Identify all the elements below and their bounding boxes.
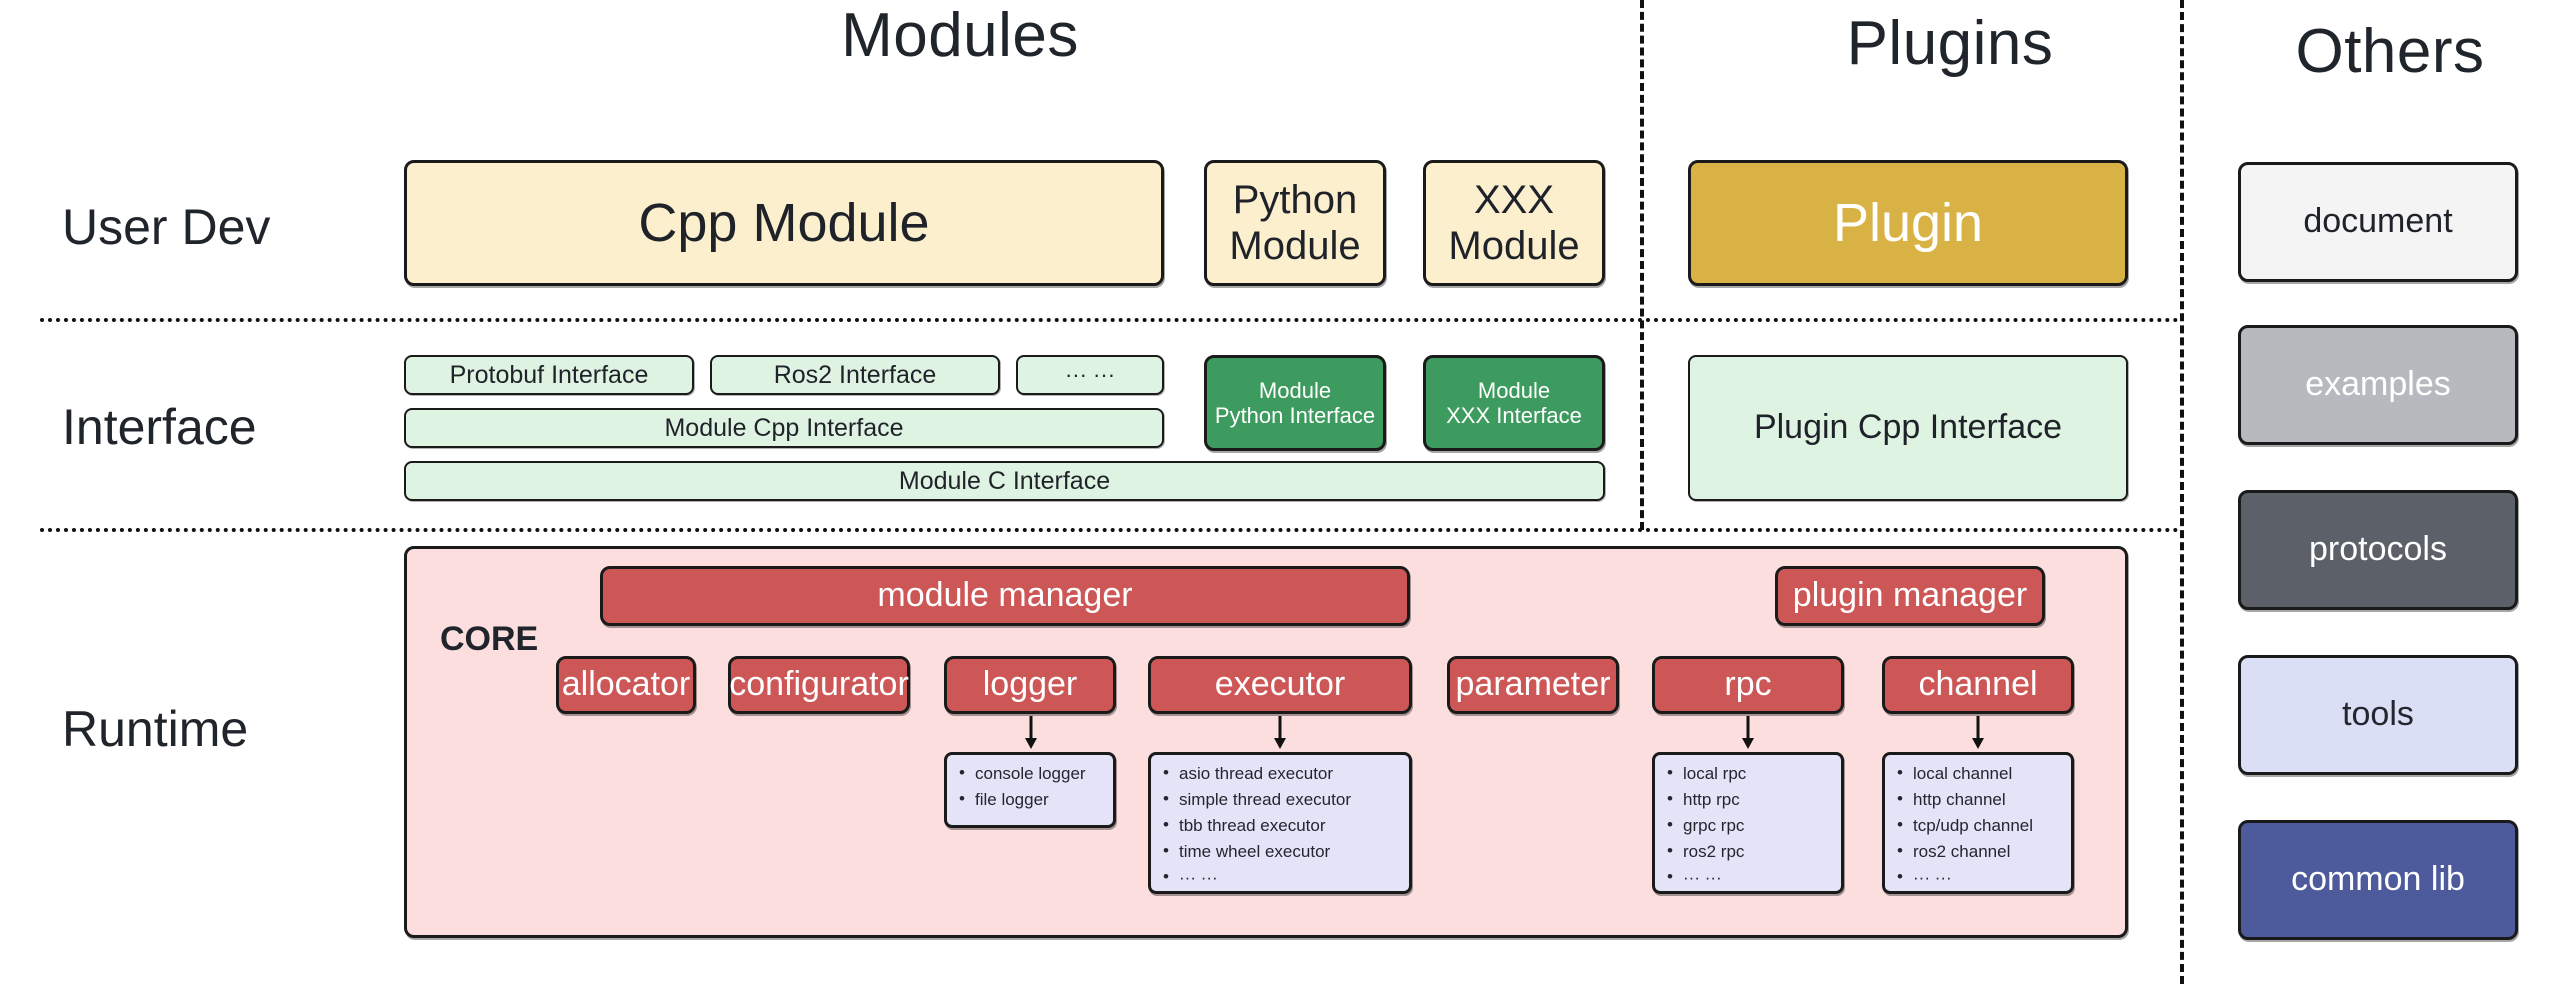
list-item: time wheel executor (1163, 843, 1401, 860)
logger-detail-box: console logger file logger (944, 752, 1116, 828)
module-python-interface-label-line2: Python Interface (1215, 403, 1375, 428)
xxx-module-box[interactable]: XXX Module (1423, 160, 1605, 286)
list-item: tcp/udp channel (1897, 817, 2063, 834)
channel-detail-box: local channel http channel tcp/udp chann… (1882, 752, 2074, 894)
others-item-protocols[interactable]: protocols (2238, 490, 2518, 610)
module-c-interface-box[interactable]: Module C Interface (404, 461, 1605, 501)
row-label-runtime: Runtime (62, 700, 248, 758)
component-channel[interactable]: channel (1882, 656, 2074, 714)
list-item: console logger (959, 765, 1105, 782)
list-item: ··· ··· (1897, 869, 2063, 886)
core-label: CORE (440, 620, 538, 659)
list-item: local channel (1897, 765, 2063, 782)
list-item: ··· ··· (1667, 869, 1833, 886)
divider-modules-plugins (1640, 0, 1644, 530)
module-cpp-interface-box[interactable]: Module Cpp Interface (404, 408, 1164, 448)
column-title-others: Others (2230, 16, 2550, 87)
list-item: http channel (1897, 791, 2063, 808)
list-item: tbb thread executor (1163, 817, 1401, 834)
list-item: local rpc (1667, 765, 1833, 782)
plugin-box[interactable]: Plugin (1688, 160, 2128, 286)
module-xxx-interface-label-line2: XXX Interface (1446, 403, 1582, 428)
executor-detail-list: asio thread executor simple thread execu… (1163, 765, 1401, 886)
xxx-module-label-line1: XXX (1474, 177, 1554, 223)
rpc-detail-box: local rpc http rpc grpc rpc ros2 rpc ···… (1652, 752, 1844, 894)
component-executor[interactable]: executor (1148, 656, 1412, 714)
arrow-down-executor-icon (1270, 716, 1290, 750)
python-module-box[interactable]: Python Module (1204, 160, 1386, 286)
plugin-cpp-interface-box[interactable]: Plugin Cpp Interface (1688, 355, 2128, 501)
more-interface-box[interactable]: ··· ··· (1016, 355, 1164, 395)
xxx-module-label-line2: Module (1448, 223, 1579, 269)
row-label-interface: Interface (62, 398, 257, 456)
python-module-label-line1: Python (1233, 177, 1358, 223)
component-allocator[interactable]: allocator (556, 656, 696, 714)
list-item: ros2 rpc (1667, 843, 1833, 860)
channel-detail-list: local channel http channel tcp/udp chann… (1897, 765, 2063, 886)
others-item-document[interactable]: document (2238, 162, 2518, 282)
others-item-common-lib[interactable]: common lib (2238, 820, 2518, 940)
list-item: ros2 channel (1897, 843, 2063, 860)
list-item: ··· ··· (1163, 869, 1401, 886)
others-item-tools[interactable]: tools (2238, 655, 2518, 775)
list-item: asio thread executor (1163, 765, 1401, 782)
plugin-manager-box[interactable]: plugin manager (1775, 566, 2045, 626)
divider-userdev-interface (40, 318, 2180, 322)
component-parameter[interactable]: parameter (1447, 656, 1619, 714)
list-item: file logger (959, 791, 1105, 808)
row-label-user-dev: User Dev (62, 198, 270, 256)
column-title-plugins: Plugins (1740, 8, 2160, 79)
list-item: http rpc (1667, 791, 1833, 808)
module-xxx-interface-box[interactable]: Module XXX Interface (1423, 355, 1605, 451)
component-configurator[interactable]: configurator (728, 656, 910, 714)
ros2-interface-box[interactable]: Ros2 Interface (710, 355, 1000, 395)
arrow-down-logger-icon (1021, 716, 1041, 750)
logger-detail-list: console logger file logger (959, 765, 1105, 808)
component-rpc[interactable]: rpc (1652, 656, 1844, 714)
module-xxx-interface-label-line1: Module (1478, 378, 1550, 403)
divider-plugins-others (2180, 0, 2184, 984)
arrow-down-rpc-icon (1738, 716, 1758, 750)
module-manager-box[interactable]: module manager (600, 566, 1410, 626)
protobuf-interface-box[interactable]: Protobuf Interface (404, 355, 694, 395)
divider-interface-runtime (40, 528, 2180, 532)
list-item: simple thread executor (1163, 791, 1401, 808)
module-python-interface-box[interactable]: Module Python Interface (1204, 355, 1386, 451)
module-python-interface-label-line1: Module (1259, 378, 1331, 403)
executor-detail-box: asio thread executor simple thread execu… (1148, 752, 1412, 894)
arrow-down-channel-icon (1968, 716, 1988, 750)
rpc-detail-list: local rpc http rpc grpc rpc ros2 rpc ···… (1667, 765, 1833, 886)
cpp-module-box[interactable]: Cpp Module (404, 160, 1164, 286)
others-item-examples[interactable]: examples (2238, 325, 2518, 445)
architecture-diagram: Modules Plugins Others User Dev Interfac… (0, 0, 2560, 984)
component-logger[interactable]: logger (944, 656, 1116, 714)
python-module-label-line2: Module (1229, 223, 1360, 269)
column-title-modules: Modules (760, 0, 1160, 71)
list-item: grpc rpc (1667, 817, 1833, 834)
